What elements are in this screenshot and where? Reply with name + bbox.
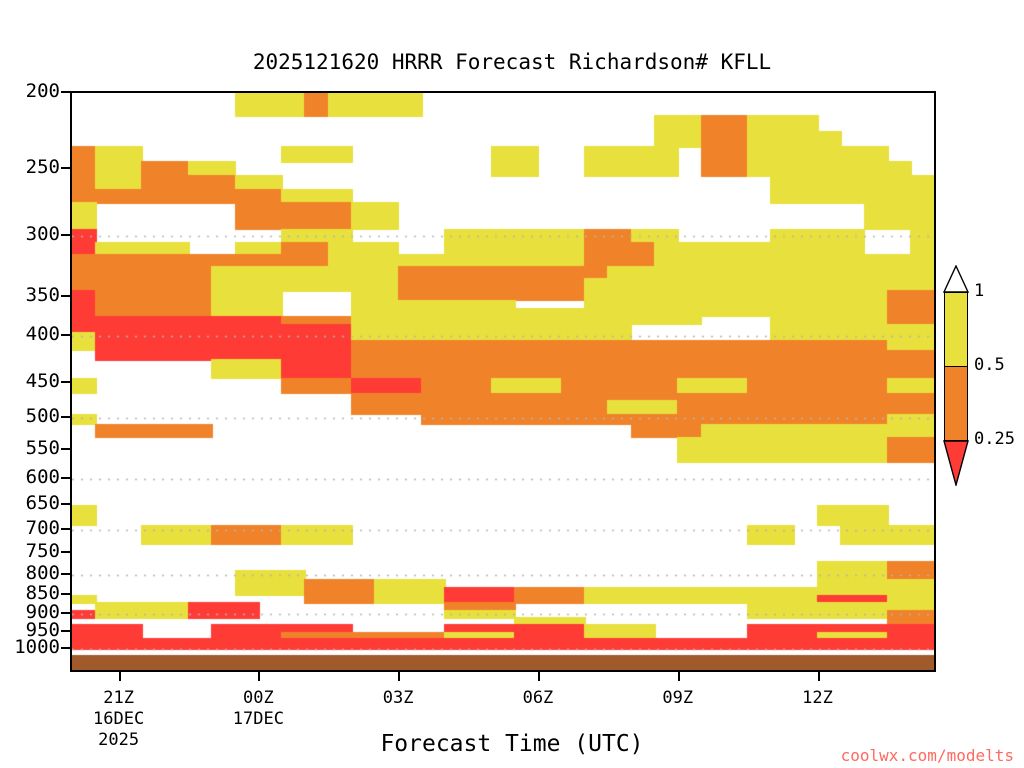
watermark: coolwx.com/modelts — [841, 746, 1014, 765]
x-axis-tick-label-06Z: 06Z — [468, 688, 608, 709]
x-axis-tick-label-00Z: 00Z 17DEC — [188, 688, 328, 730]
y-axis-tick-mark-900 — [61, 612, 70, 614]
colorbar-label-05: 0.5 — [974, 355, 1005, 375]
y-axis-tick-mark-400 — [61, 334, 70, 336]
y-axis-tick-label-700: 700 — [0, 517, 60, 539]
y-axis-tick-label-800: 800 — [0, 562, 60, 584]
y-axis-tick-mark-850 — [61, 593, 70, 595]
y-axis-tick-label-400: 400 — [0, 323, 60, 345]
y-axis-tick-label-1000: 1000 — [0, 636, 60, 658]
colorbar-label-1: 1 — [974, 281, 984, 301]
x-axis-tick-mark-12Z — [818, 672, 820, 681]
y-axis-tick-mark-450 — [61, 381, 70, 383]
colorbar-arrow-down-outline — [943, 440, 969, 486]
colorbar-tick-line-1 — [944, 292, 968, 293]
y-axis-tick-mark-1000 — [61, 647, 70, 649]
x-axis-tick-mark-00Z — [258, 672, 260, 681]
y-axis-tick-label-300: 300 — [0, 223, 60, 245]
y-axis-tick-label-600: 600 — [0, 466, 60, 488]
y-axis-tick-label-550: 550 — [0, 437, 60, 459]
y-axis-tick-label-250: 250 — [0, 156, 60, 178]
y-axis-tick-mark-800 — [61, 573, 70, 575]
x-axis-tick-label-12Z: 12Z — [748, 688, 888, 709]
colorbar-legend: 1 0.5 0.25 — [944, 292, 968, 440]
y-axis-tick-label-450: 450 — [0, 370, 60, 392]
x-axis-tick-mark-09Z — [678, 672, 680, 681]
y-axis-tick-label-750: 750 — [0, 540, 60, 562]
colorbar-segment-orange — [944, 366, 968, 440]
y-axis-tick-mark-350 — [61, 295, 70, 297]
y-axis-tick-mark-200 — [61, 91, 70, 93]
x-axis-tick-mark-06Z — [538, 672, 540, 681]
y-axis-tick-mark-250 — [61, 167, 70, 169]
y-axis-tick-label-650: 650 — [0, 492, 60, 514]
colorbar-arrow-up-outline — [943, 265, 969, 293]
y-axis-tick-mark-600 — [61, 477, 70, 479]
y-axis-tick-mark-950 — [61, 630, 70, 632]
y-axis-tick-label-500: 500 — [0, 405, 60, 427]
y-axis-tick-mark-750 — [61, 551, 70, 553]
plot-area — [70, 91, 936, 672]
y-axis-tick-mark-300 — [61, 234, 70, 236]
x-axis-tick-label-09Z: 09Z — [608, 688, 748, 709]
x-axis-tick-mark-03Z — [398, 672, 400, 681]
y-axis-tick-mark-500 — [61, 416, 70, 418]
colorbar-label-025: 0.25 — [974, 429, 1015, 449]
colorbar-segment-yellow — [944, 292, 968, 366]
heatmap-canvas — [72, 93, 934, 670]
x-axis-tick-mark-21Z — [119, 672, 121, 681]
y-axis-tick-mark-550 — [61, 448, 70, 450]
colorbar-tick-line-05 — [944, 366, 968, 367]
y-axis-tick-mark-650 — [61, 503, 70, 505]
y-axis-tick-mark-700 — [61, 528, 70, 530]
y-axis-tick-label-350: 350 — [0, 284, 60, 306]
y-axis-tick-label-200: 200 — [0, 80, 60, 102]
x-axis-tick-label-03Z: 03Z — [328, 688, 468, 709]
page-title: 2025121620 HRRR Forecast Richardson# KFL… — [0, 50, 1024, 74]
